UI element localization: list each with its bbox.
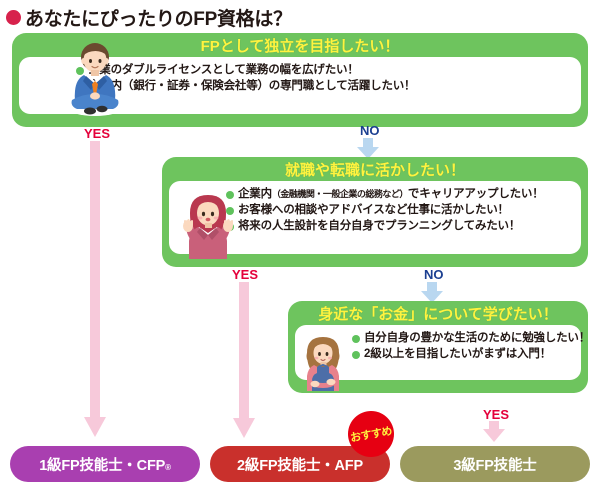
page-title-text: あなたにぴったりのFP資格は？ xyxy=(25,4,292,31)
result-pill-grade3[interactable]: 3級FP技能士 xyxy=(400,446,590,482)
list-item-text-tail: でキャリアアップしたい！ xyxy=(408,188,544,200)
question-2-yes-label: YES xyxy=(232,268,258,281)
result-label-grade2: 2級FP技能士・AFP xyxy=(237,454,363,475)
question-3-bullet-list: 自分自身の豊かな生活のために勉強したい！ 2級以上を目指したいがまずは入門！ xyxy=(351,330,573,362)
list-item-text: 企業内 xyxy=(238,188,272,200)
result-label-grade1: 1級FP技能士・CFP xyxy=(39,454,165,475)
question-1-heading: FPとして独立を目指したい！ xyxy=(19,37,581,57)
list-item: 企業内（金融機関・一般企業の総務など）でキャリアアップしたい！ xyxy=(225,186,573,202)
result-pill-grade1[interactable]: 1級FP技能士・CFP® xyxy=(10,446,200,482)
question-2-bullet-list: 企業内（金融機関・一般企業の総務など）でキャリアアップしたい！ お客様への相談や… xyxy=(225,186,573,234)
question-3-yes-label: YES xyxy=(483,408,509,421)
question-panel-1: FPとして独立を目指したい！ 士業のダブルライセンスとして業務の幅を広げたい！ … xyxy=(12,33,588,127)
list-item: 2級以上を目指したいがまずは入門！ xyxy=(351,346,573,362)
list-item: 自分自身の豊かな生活のために勉強したい！ xyxy=(351,330,573,346)
list-item: お客様への相談やアドバイスなど仕事に活かしたい！ xyxy=(225,202,573,218)
question-3-heading: 身近な「お金」について学びたい！ xyxy=(295,305,581,325)
arrow-q1-yes xyxy=(82,141,108,440)
question-1-no-label: NO xyxy=(360,124,380,137)
recommended-badge-text: おすすめ xyxy=(349,422,393,445)
page-title: あなたにぴったりのFP資格は？ xyxy=(6,4,292,31)
arrow-q2-yes xyxy=(231,282,257,440)
question-panel-2: 就職や転職に活かしたい！ 企業内（金融機関・一般企業の総務など）でキャリアアップ… xyxy=(162,157,588,267)
arrow-q3-yes xyxy=(481,421,507,443)
title-bullet-icon xyxy=(6,10,21,25)
result-label-grade3: 3級FP技能士 xyxy=(453,454,536,475)
list-item: 将来の人生設計を自分自身でプランニングしてみたい！ xyxy=(225,218,573,234)
question-1-yes-label: YES xyxy=(84,127,110,140)
registered-mark-icon: ® xyxy=(165,463,171,472)
flowchart-canvas: あなたにぴったりのFP資格は？ FPとして独立を目指したい！ 士業のダブルライセ… xyxy=(0,0,600,486)
question-2-heading: 就職や転職に活かしたい！ xyxy=(169,161,581,181)
question-1-body: 士業のダブルライセンスとして業務の幅を広げたい！ 企業内（銀行・証券・保険会社等… xyxy=(19,57,581,114)
question-3-body: 自分自身の豊かな生活のために勉強したい！ 2級以上を目指したいがまずは入門！ xyxy=(295,325,581,380)
list-item: 企業内（銀行・証券・保険会社等）の専門職として活躍したい！ xyxy=(75,78,573,94)
question-1-bullet-list: 士業のダブルライセンスとして業務の幅を広げたい！ 企業内（銀行・証券・保険会社等… xyxy=(75,62,573,94)
question-2-no-label: NO xyxy=(424,268,444,281)
list-item: 士業のダブルライセンスとして業務の幅を広げたい！ xyxy=(75,62,573,78)
question-panel-3: 身近な「お金」について学びたい！ 自分自身の豊かな生活のために勉強したい！ 2級… xyxy=(288,301,588,393)
list-item-note: （金融機関・一般企業の総務など） xyxy=(272,189,408,199)
question-2-body: 企業内（金融機関・一般企業の総務など）でキャリアアップしたい！ お客様への相談や… xyxy=(169,181,581,254)
